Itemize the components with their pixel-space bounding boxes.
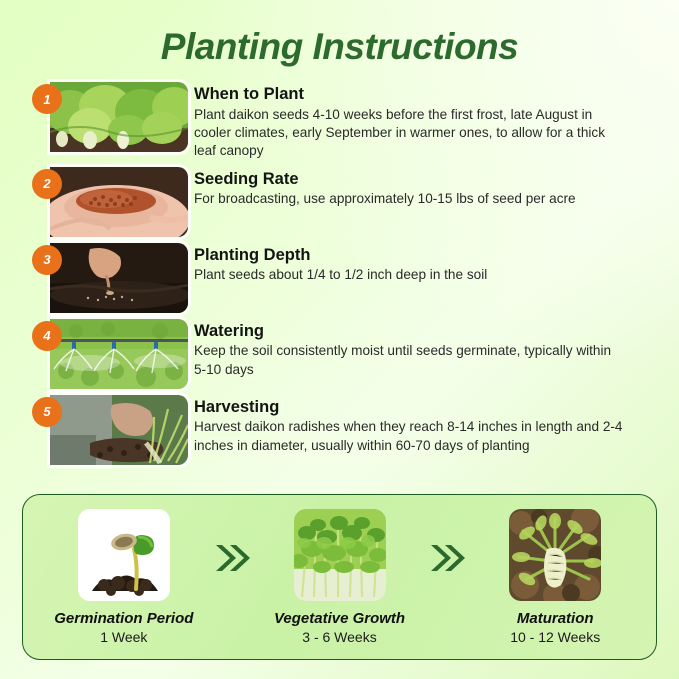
step-title: Seeding Rate [194, 169, 661, 190]
double-chevron-right-icon [426, 542, 468, 574]
step-text: When to Plant Plant daikon seeds 4-10 we… [188, 82, 661, 161]
step-number-badge: 3 [32, 245, 62, 275]
step-number-badge: 4 [32, 321, 62, 351]
step-text: Watering Keep the soil consistently mois… [188, 319, 661, 379]
step-text: Planting Depth Plant seeds about 1/4 to … [188, 243, 661, 285]
page-title: Planting Instructions [0, 0, 679, 76]
double-chevron-right-icon [211, 542, 253, 574]
step-title: Harvesting [194, 397, 661, 418]
leafy-greens-photo [294, 509, 386, 601]
step-title: Watering [194, 321, 661, 342]
step-thumbnail-wrap: 4 [18, 319, 188, 389]
seed-sprout-photo [78, 509, 170, 601]
step-number-badge: 5 [32, 397, 62, 427]
mature-daikon-photo [509, 509, 601, 601]
hand-holding-seeds-photo [50, 167, 188, 237]
step-number-badge: 1 [32, 84, 62, 114]
timeline-stage-duration: 10 - 12 Weeks [510, 629, 600, 645]
hand-sowing-soil-photo [50, 243, 188, 313]
growth-timeline: Germination Period 1 Week [22, 494, 657, 660]
timeline-stage-duration: 3 - 6 Weeks [302, 629, 376, 645]
timeline-stage-vegetative: Vegetative Growth 3 - 6 Weeks [253, 509, 427, 645]
timeline-stage-maturation: Maturation 10 - 12 Weeks [468, 509, 642, 645]
step-title: Planting Depth [194, 245, 661, 266]
step-number-badge: 2 [32, 169, 62, 199]
timeline-stage-duration: 1 Week [100, 629, 147, 645]
timeline-stage-label: Germination Period [54, 610, 193, 627]
step-description: Plant seeds about 1/4 to 1/2 inch deep i… [194, 266, 624, 284]
sprinkler-irrigation-photo [50, 319, 188, 389]
step-description: Plant daikon seeds 4-10 weeks before the… [194, 106, 624, 161]
steps-list: 1 When to [0, 76, 679, 465]
step-item: 4 [18, 319, 661, 389]
daikon-field-photo [50, 82, 188, 152]
timeline-stage-germination: Germination Period 1 Week [37, 509, 211, 645]
step-item: 5 [18, 395, 661, 465]
step-thumbnail-wrap: 2 [18, 167, 188, 237]
timeline-stage-label: Vegetative Growth [274, 610, 405, 627]
step-thumbnail-wrap: 5 [18, 395, 188, 465]
harvesting-radish-photo [50, 395, 188, 465]
step-description: Keep the soil consistently moist until s… [194, 342, 624, 379]
step-item: 2 [18, 167, 661, 237]
step-thumbnail-wrap: 3 [18, 243, 188, 313]
step-title: When to Plant [194, 84, 661, 105]
step-description: For broadcasting, use approximately 10-1… [194, 190, 624, 208]
timeline-stage-label: Maturation [517, 610, 594, 627]
step-thumbnail-wrap: 1 [18, 82, 188, 152]
step-text: Seeding Rate For broadcasting, use appro… [188, 167, 661, 209]
step-item: 1 When to [18, 82, 661, 161]
step-text: Harvesting Harvest daikon radishes when … [188, 395, 661, 455]
step-description: Harvest daikon radishes when they reach … [194, 418, 624, 455]
step-item: 3 Planting Depth Plan [18, 243, 661, 313]
